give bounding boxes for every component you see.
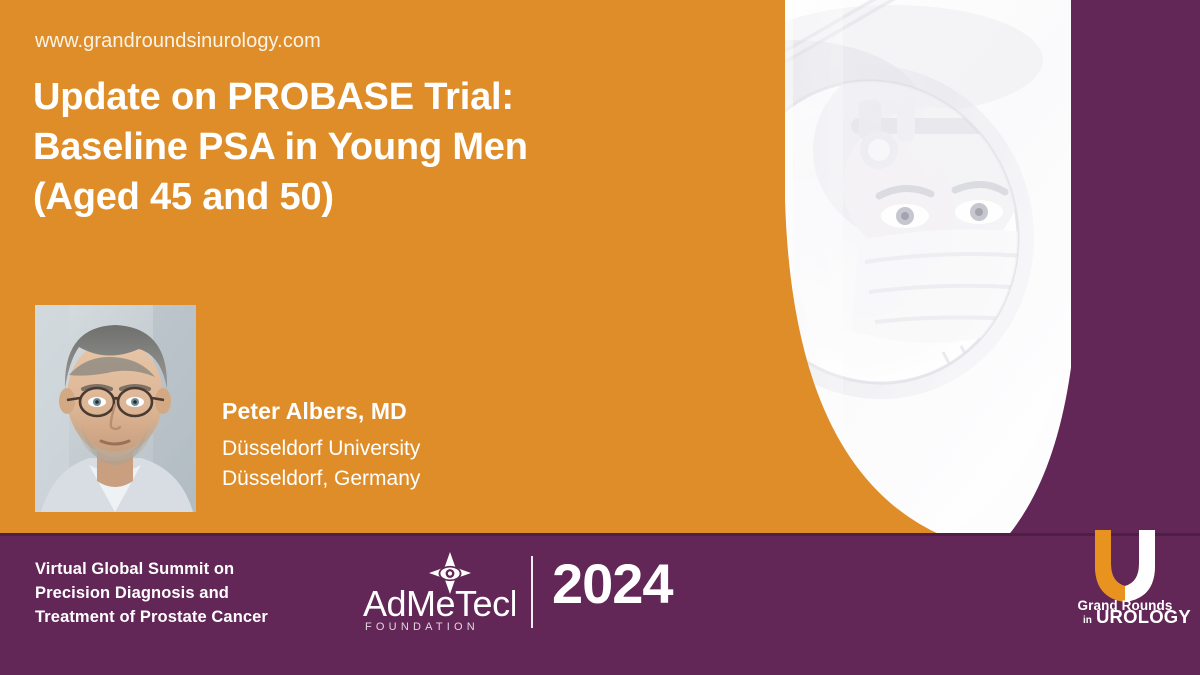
summit-line-1: Virtual Global Summit on: [35, 557, 268, 581]
logo-line-2-group: in UROLOGY .: [1083, 606, 1191, 624]
footer-top-divider: [0, 533, 1200, 536]
speaker-affiliation: Düsseldorf University Düsseldorf, German…: [222, 434, 622, 495]
logo-trademark: .: [1170, 618, 1172, 624]
u-mark-icon: [1095, 530, 1155, 602]
grand-rounds-urology-logo[interactable]: Grand Rounds in UROLOGY .: [1059, 524, 1191, 624]
purple-right-block: [1071, 0, 1200, 536]
speaker-info: Peter Albers, MD Düsseldorf University D…: [222, 398, 622, 495]
title-line-2: Baseline PSA in Young Men: [33, 122, 633, 172]
speaker-affiliation-line-1: Düsseldorf University: [222, 434, 622, 464]
speaker-photo: [35, 305, 196, 512]
logo-in-prefix: in: [1083, 615, 1092, 624]
title-slide: www.grandroundsinurology.com Update on P…: [0, 0, 1200, 675]
page-title: Update on PROBASE Trial: Baseline PSA in…: [33, 72, 633, 222]
speaker-name: Peter Albers, MD: [222, 398, 622, 425]
speaker-affiliation-line-2: Düsseldorf, Germany: [222, 464, 622, 494]
admetech-wordmark: AdMeTech: [363, 583, 515, 624]
summit-line-2: Precision Diagnosis and: [35, 581, 268, 605]
admetech-foundation-text: FOUNDATION: [365, 621, 479, 632]
title-line-1: Update on PROBASE Trial:: [33, 72, 633, 122]
title-line-3: (Aged 45 and 50): [33, 172, 633, 222]
logo-line-2: UROLOGY: [1096, 606, 1191, 624]
purple-right-curve: [1000, 255, 1080, 545]
footer-bar: Virtual Global Summit on Precision Diagn…: [0, 536, 1200, 675]
event-year: 2024: [552, 556, 673, 612]
summit-name: Virtual Global Summit on Precision Diagn…: [35, 557, 268, 629]
website-url[interactable]: www.grandroundsinurology.com: [35, 30, 321, 53]
admetech-foundation-logo: AdMeTech FOUNDATION: [363, 552, 515, 632]
footer-divider: [531, 556, 533, 628]
speaker-portrait-art: [35, 305, 196, 512]
summit-line-3: Treatment of Prostate Cancer: [35, 605, 268, 629]
